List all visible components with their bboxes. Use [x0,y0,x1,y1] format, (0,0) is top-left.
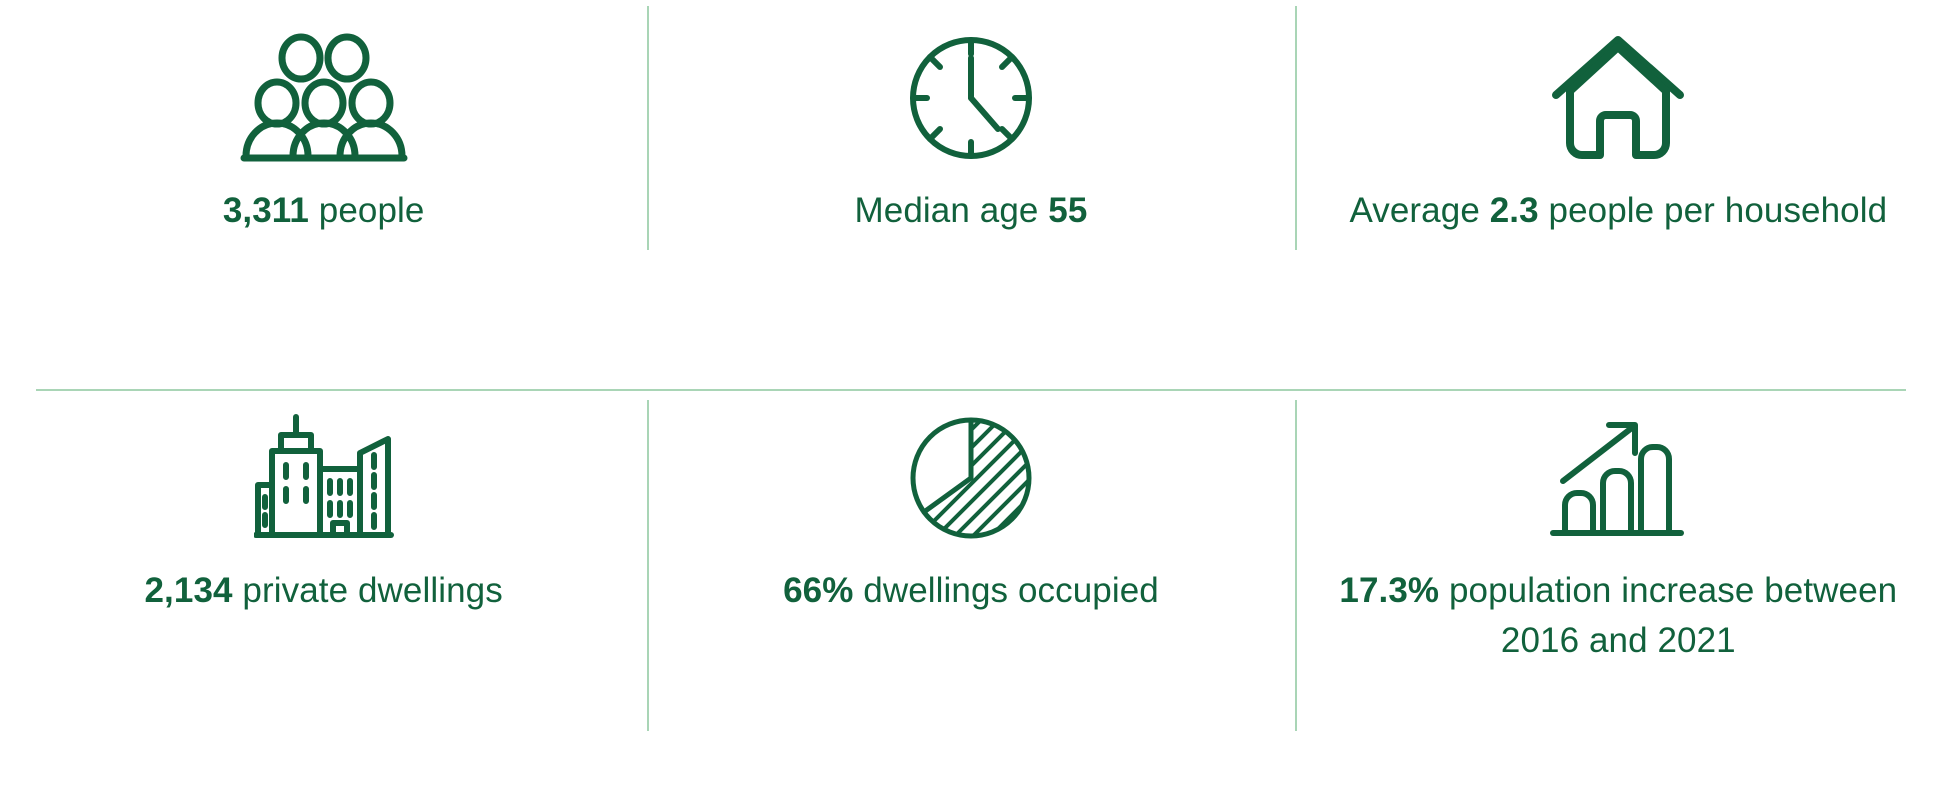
house-icon [1518,28,1718,168]
stat-caption-private-dwellings: 2,134 private dwellings [144,566,502,616]
stat-cell-dwellings-occupied: 66% dwellings occupied [647,390,1294,807]
stat-label-population-increase: population increase between 2016 and 202… [1439,571,1897,660]
clock-icon [871,28,1071,168]
stat-caption-dwellings-occupied: 66% dwellings occupied [783,566,1159,616]
stat-value-private-dwellings: 2,134 [144,571,232,610]
stat-caption-median-age: Median age 55 [855,186,1088,236]
stat-caption-population: 3,311 people [223,186,425,236]
stat-cell-population: 3,311 people [0,0,647,390]
stat-value-population-increase: 17.3% [1339,571,1439,610]
pie-chart-icon [871,408,1071,548]
stat-row-bottom: 2,134 private dwellings [0,390,1942,807]
city-buildings-icon [224,408,424,548]
stat-label-median-age: Median age [855,191,1049,230]
stat-value-population: 3,311 [223,191,309,230]
stat-cell-private-dwellings: 2,134 private dwellings [0,390,647,807]
people-group-icon [224,28,424,168]
bar-chart-growth-icon [1518,408,1718,548]
stat-caption-population-increase: 17.3% population increase between 2016 a… [1338,566,1898,665]
stat-label-dwellings-occupied: dwellings occupied [853,571,1158,610]
stat-label-household-prefix: Average [1349,191,1489,230]
stat-label-private-dwellings: private dwellings [233,571,503,610]
stat-cell-household-size: Average 2.3 people per household [1295,0,1942,390]
stat-cell-population-increase: 17.3% population increase between 2016 a… [1295,390,1942,807]
stat-value-dwellings-occupied: 66% [783,571,853,610]
stat-label-household-suffix: people per household [1539,191,1888,230]
stat-value-median-age: 55 [1048,191,1087,230]
statistics-infographic: 3,311 people [0,0,1942,807]
stat-caption-household-size: Average 2.3 people per household [1349,186,1887,236]
stat-row-top: 3,311 people [0,0,1942,390]
stat-cell-median-age: Median age 55 [647,0,1294,390]
stat-value-household-size: 2.3 [1490,191,1539,230]
stat-label-population: people [309,191,425,230]
